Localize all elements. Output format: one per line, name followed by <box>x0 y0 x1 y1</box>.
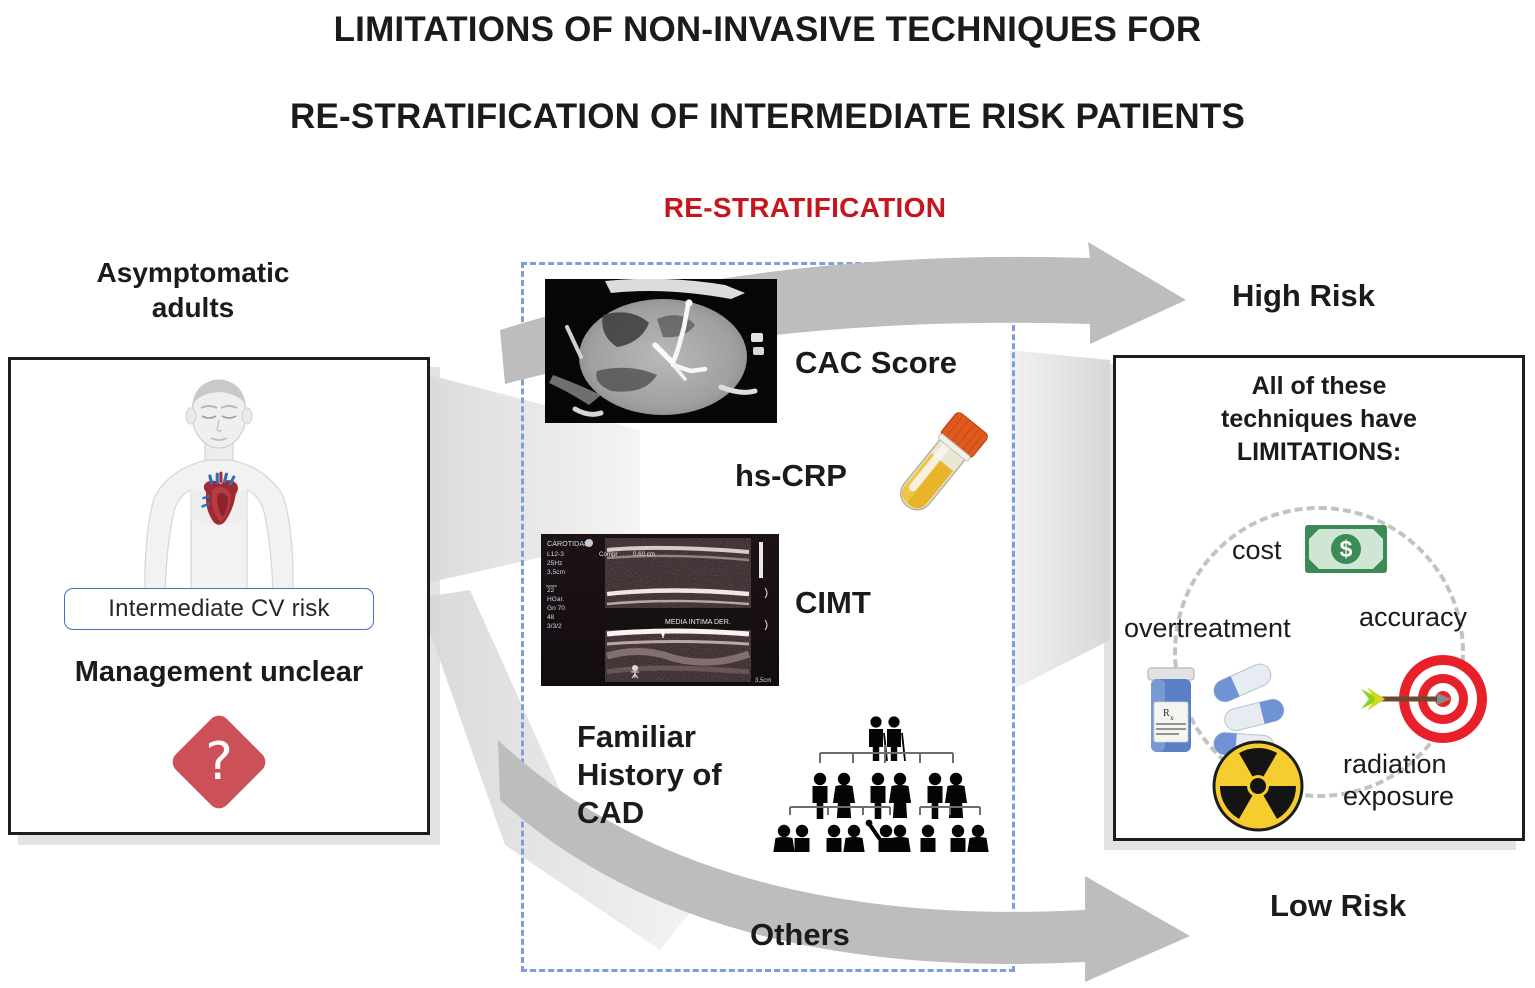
svg-text:Gn 70: Gn 70 <box>547 605 565 612</box>
svg-text:3/3/2: 3/3/2 <box>547 623 562 630</box>
others-label: Others <box>750 917 850 953</box>
cac-score-label: CAC Score <box>795 345 957 381</box>
svg-text:HGar.: HGar. <box>547 596 564 603</box>
svg-text:22: 22 <box>547 587 555 594</box>
low-risk-label: Low Risk <box>1270 888 1406 924</box>
family-tree-pictogram <box>768 697 1003 852</box>
cardiac-ct-image <box>545 279 777 423</box>
carotid-ultrasound-image: MEDIA INTIMA DER. CAROTIDA8 L12-3 25Hz 3… <box>541 534 779 686</box>
ultrasound-measure-label: MEDIA INTIMA DER. <box>665 619 731 626</box>
svg-text:L12-3: L12-3 <box>547 551 564 558</box>
svg-text:0,60 cm: 0,60 cm <box>633 551 655 558</box>
family-history-cad-label: FamiliarHistory ofCAD <box>577 718 787 831</box>
svg-text:Compr: Compr <box>599 551 618 558</box>
infographic-canvas: LIMITATIONS OF NON-INVASIVE TECHNIQUES F… <box>0 0 1535 988</box>
svg-text:3,5cm: 3,5cm <box>755 678 771 684</box>
high-risk-label: High Risk <box>1232 278 1375 314</box>
svg-text:48: 48 <box>547 614 555 621</box>
svg-text:25Hz: 25Hz <box>547 560 562 567</box>
ultrasound-probe-label: CAROTIDA8 <box>547 539 588 548</box>
hs-crp-label: hs-CRP <box>735 458 847 494</box>
blood-collection-tube-icon <box>876 408 996 533</box>
cimt-label: CIMT <box>795 585 871 621</box>
svg-text:3,5cm: 3,5cm <box>547 569 565 576</box>
